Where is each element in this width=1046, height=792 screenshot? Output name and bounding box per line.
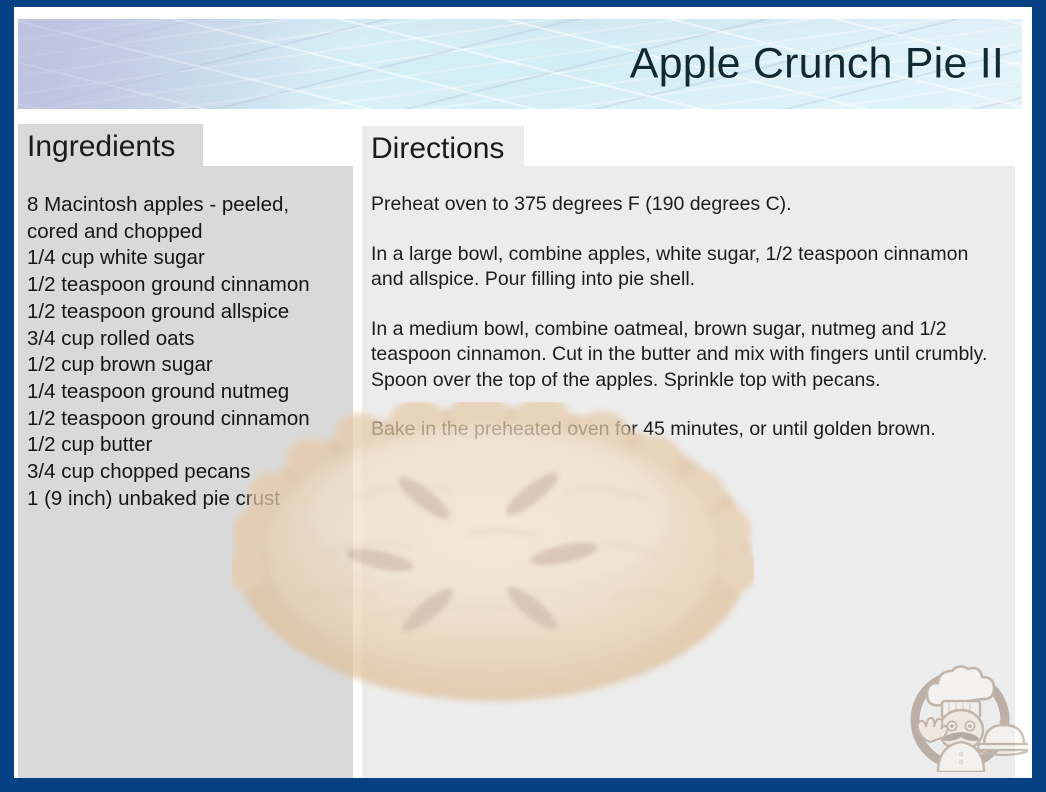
frame-right-border: [1032, 0, 1046, 792]
direction-step: Bake in the preheated oven for 45 minute…: [371, 417, 1001, 443]
direction-step: In a large bowl, combine apples, white s…: [371, 242, 1001, 293]
ingredient-item: 8 Macintosh apples - peeled, cored and c…: [27, 192, 343, 245]
ingredient-item: 1/4 cup white sugar: [27, 245, 343, 272]
page-title: Apple Crunch Pie II: [630, 41, 1004, 86]
tab-directions-label: Directions: [371, 132, 504, 166]
tab-directions[interactable]: Directions: [362, 126, 524, 172]
ingredients-panel: 8 Macintosh apples - peeled, cored and c…: [18, 166, 353, 778]
ingredient-item: 1/4 teaspoon ground nutmeg: [27, 379, 343, 406]
ingredient-item: 3/4 cup chopped pecans: [27, 459, 343, 486]
direction-step: Preheat oven to 375 degrees F (190 degre…: [371, 192, 1001, 218]
ingredient-list: 8 Macintosh apples - peeled, cored and c…: [27, 192, 343, 512]
ingredient-item: 1/2 teaspoon ground allspice: [27, 299, 343, 326]
frame-top-border: [0, 0, 1046, 7]
frame-bottom-border: [0, 778, 1046, 792]
directions-panel: Preheat oven to 375 degrees F (190 degre…: [362, 166, 1015, 778]
banner-gradient-overlay: [18, 19, 318, 109]
ingredient-item: 1 (9 inch) unbaked pie crust: [27, 486, 343, 513]
tab-ingredients-label: Ingredients: [27, 130, 175, 164]
ingredient-item: 1/2 teaspoon ground cinnamon: [27, 406, 343, 433]
ingredient-item: 1/2 teaspoon ground cinnamon: [27, 272, 343, 299]
title-banner: Apple Crunch Pie II: [18, 19, 1022, 109]
tab-ingredients[interactable]: Ingredients: [18, 124, 203, 170]
frame-left-border: [0, 0, 14, 792]
ingredient-item: 1/2 cup butter: [27, 432, 343, 459]
direction-step: In a medium bowl, combine oatmeal, brown…: [371, 317, 1001, 394]
recipe-card-slide: Apple Crunch Pie II Ingredients 8 Macint…: [0, 0, 1046, 792]
ingredient-item: 1/2 cup brown sugar: [27, 352, 343, 379]
ingredient-item: 3/4 cup rolled oats: [27, 326, 343, 353]
directions-step-list: Preheat oven to 375 degrees F (190 degre…: [371, 192, 1001, 443]
